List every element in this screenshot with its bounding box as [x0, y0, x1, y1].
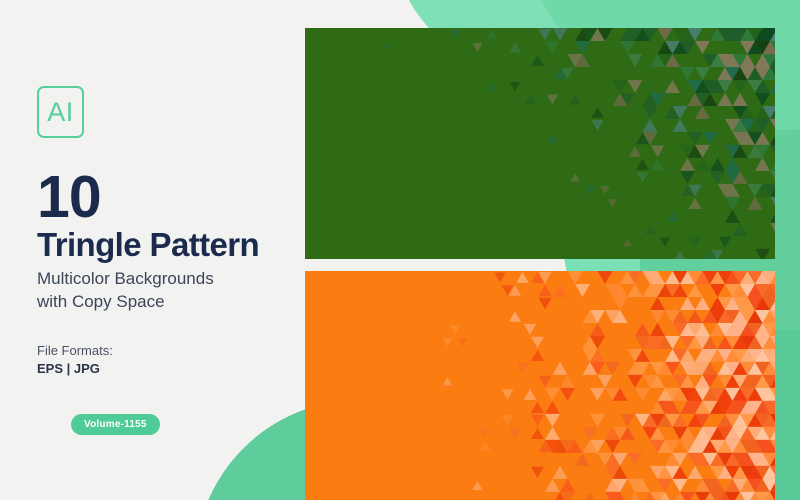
item-count: 10 [37, 168, 101, 227]
orange-pattern-svg [305, 271, 775, 500]
volume-badge: Volume-1155 [71, 414, 160, 435]
file-formats-value: EPS | JPG [37, 361, 100, 377]
page-subtitle-line-2: with Copy Space [37, 292, 165, 311]
ai-badge-label: AI [47, 99, 74, 126]
orange-triangle-panel [305, 271, 775, 500]
adobe-illustrator-badge-icon: AI [37, 86, 84, 138]
green-triangle-panel [305, 28, 775, 259]
info-column: AI 10 Tringle Pattern Multicolor Backgro… [37, 0, 297, 500]
page-title: Tringle Pattern [37, 228, 259, 261]
page-subtitle-line-1: Multicolor Backgrounds [37, 269, 214, 288]
green-pattern-svg [305, 28, 775, 259]
page-subtitle: Multicolor Backgrounds with Copy Space [37, 268, 287, 314]
poster-canvas: AI 10 Tringle Pattern Multicolor Backgro… [0, 0, 800, 500]
file-formats-label: File Formats: [37, 343, 113, 359]
